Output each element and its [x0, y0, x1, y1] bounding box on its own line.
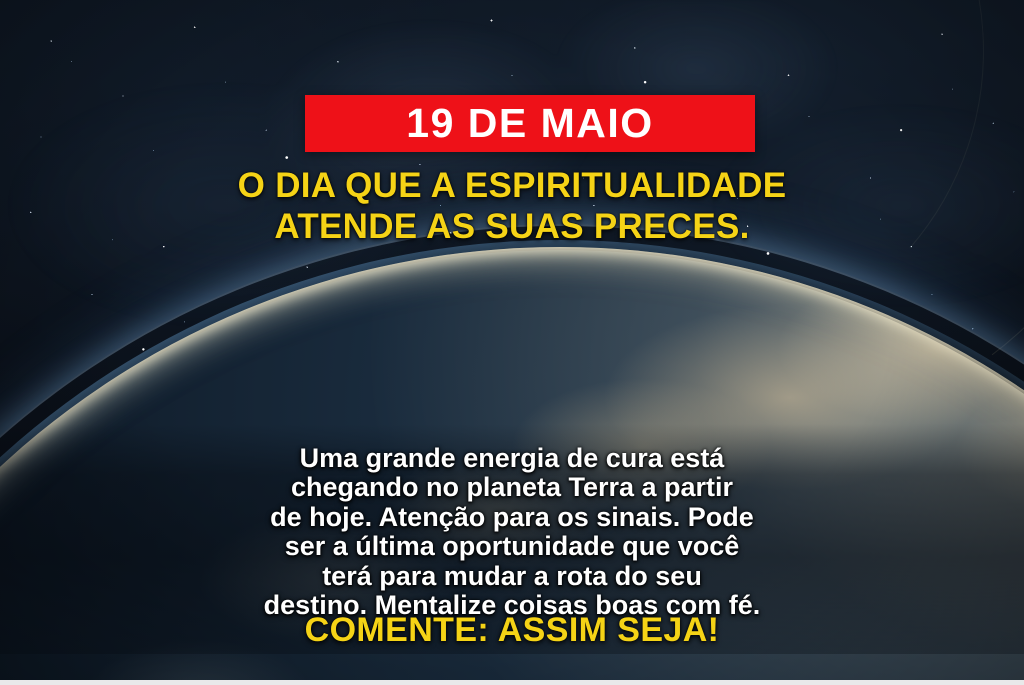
headline: O DIA QUE A ESPIRITUALIDADE ATENDE AS SU…: [0, 166, 1024, 247]
poster-content: 19 DE MAIO O DIA QUE A ESPIRITUALIDADE A…: [0, 0, 1024, 685]
poster-canvas: 19 DE MAIO O DIA QUE A ESPIRITUALIDADE A…: [0, 0, 1024, 685]
body-line-2: chegando no planeta Terra a partir: [0, 473, 1024, 502]
body-paragraph: Uma grande energia de cura está chegando…: [0, 444, 1024, 621]
body-line-5: terá para mudar a rota do seu: [0, 562, 1024, 591]
headline-line-1: O DIA QUE A ESPIRITUALIDADE: [0, 166, 1024, 207]
call-to-action-text: COMENTE: ASSIM SEJA!: [0, 613, 1024, 647]
body-line-3: de hoje. Atenção para os sinais. Pode: [0, 503, 1024, 532]
headline-line-2: ATENDE AS SUAS PRECES.: [0, 207, 1024, 248]
date-banner-label: 19 DE MAIO: [406, 103, 653, 144]
body-line-4: ser a última oportunidade que você: [0, 532, 1024, 561]
date-banner: 19 DE MAIO: [305, 95, 755, 152]
bottom-edge-strip: [0, 680, 1024, 685]
body-line-1: Uma grande energia de cura está: [0, 444, 1024, 473]
